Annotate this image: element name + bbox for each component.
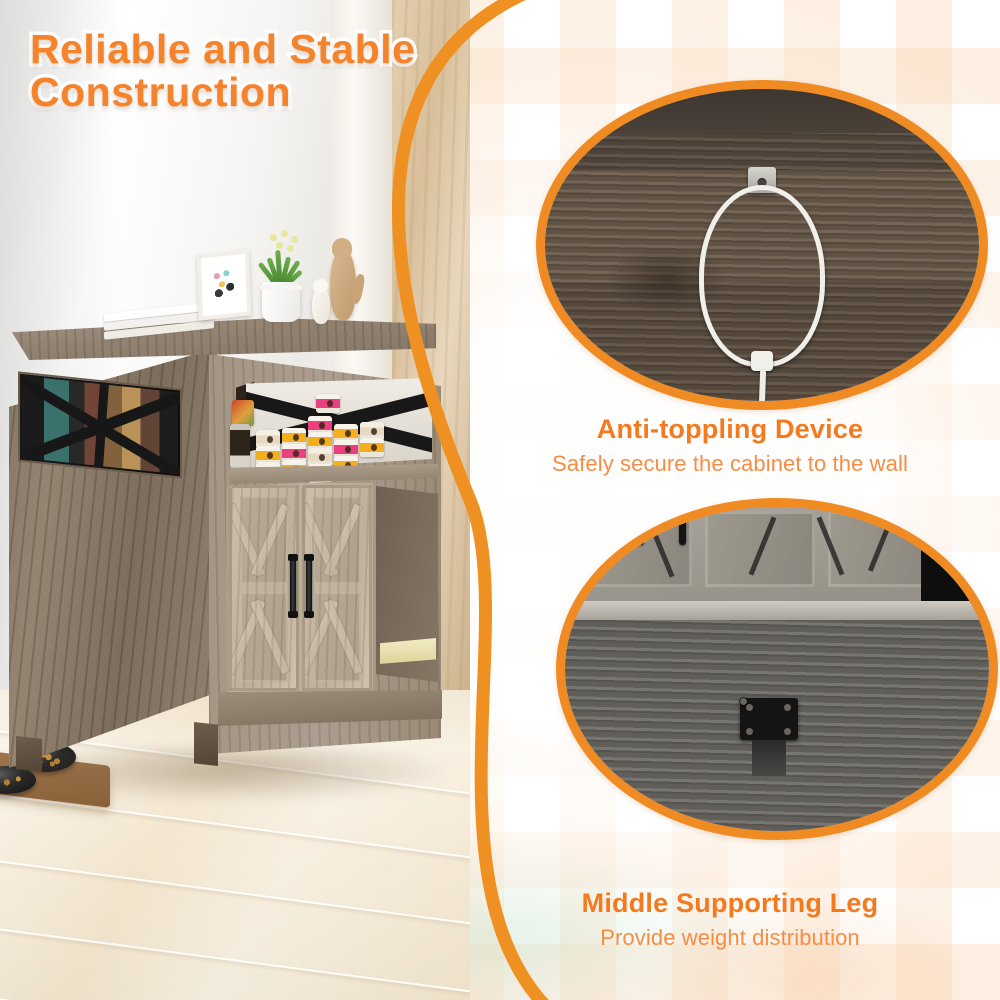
- plant-bloom: [281, 230, 288, 237]
- plant-bloom: [287, 245, 294, 252]
- cabinet-foot: [194, 722, 218, 766]
- caption-middle-supporting-leg: Middle Supporting Leg Provide weight dis…: [470, 888, 990, 951]
- door-k-brace: [251, 504, 289, 577]
- glass-jar: [230, 424, 250, 468]
- picture-frame: [197, 249, 251, 320]
- zip-tie-loop: [699, 185, 825, 367]
- cat-food-can: [316, 394, 340, 413]
- barn-door-pair[interactable]: [226, 480, 376, 698]
- cat-figurine-large: [330, 248, 356, 320]
- inset-anti-toppling-device: [536, 80, 988, 410]
- product-feature-banner: Reliable and Stable Construction Anti-to…: [0, 0, 1000, 1000]
- door-handle-right: [679, 511, 686, 545]
- zip-tie-tail: [758, 369, 766, 410]
- door-handle-left: [637, 511, 644, 545]
- feature-title-middle-leg: Middle Supporting Leg: [470, 888, 990, 919]
- barn-door-left[interactable]: [229, 485, 299, 691]
- feature-title-anti-toppling: Anti-toppling Device: [470, 414, 990, 445]
- cat-litter-box-cabinet: [4, 318, 444, 778]
- cabinet-top-surface: [12, 318, 436, 360]
- cat-food-can: [360, 438, 384, 457]
- plant-bloom: [276, 242, 283, 249]
- headline: Reliable and Stable Construction: [30, 28, 450, 115]
- middle-support-leg-bracket: [740, 698, 798, 740]
- barn-door-strip: [565, 507, 989, 604]
- cat-figurine-small: [312, 286, 330, 324]
- door-k-brace: [323, 600, 362, 675]
- door-panel: [240, 592, 288, 682]
- inset-middle-supporting-leg: [556, 498, 998, 840]
- feature-subtitle-anti-toppling: Safely secure the cabinet to the wall: [470, 451, 990, 477]
- middle-support-leg-post: [752, 740, 786, 776]
- side-x-mesh-window: [18, 371, 182, 478]
- door-k-brace: [324, 504, 362, 577]
- door-handle-left[interactable]: [290, 558, 296, 614]
- door-k-brace: [250, 600, 289, 675]
- room-photo: [0, 0, 470, 1000]
- cabinet-top-edge: [545, 89, 979, 133]
- door-handle-right[interactable]: [306, 558, 312, 614]
- food-tin: [232, 400, 254, 426]
- barn-door-right[interactable]: [302, 485, 372, 691]
- frame-artwork: [206, 259, 242, 310]
- caption-anti-toppling: Anti-toppling Device Safely secure the c…: [470, 414, 990, 477]
- plant-bloom: [270, 234, 277, 241]
- feature-subtitle-middle-leg: Provide weight distribution: [470, 925, 990, 951]
- dark-opening: [921, 507, 989, 604]
- headline-line-2: Construction: [30, 71, 450, 114]
- cabinet-floor-shadow: [4, 748, 454, 804]
- door-panel: [313, 592, 361, 682]
- cabinet-foot: [16, 736, 42, 772]
- headline-line-1: Reliable and Stable: [30, 28, 450, 71]
- door-k-brace: [229, 600, 266, 675]
- door-panel: [313, 496, 361, 584]
- door-k-brace: [229, 504, 265, 577]
- plant-pot: [262, 282, 300, 322]
- plant-bloom: [291, 236, 298, 243]
- door-panel: [240, 496, 288, 584]
- base-ledge: [565, 601, 989, 620]
